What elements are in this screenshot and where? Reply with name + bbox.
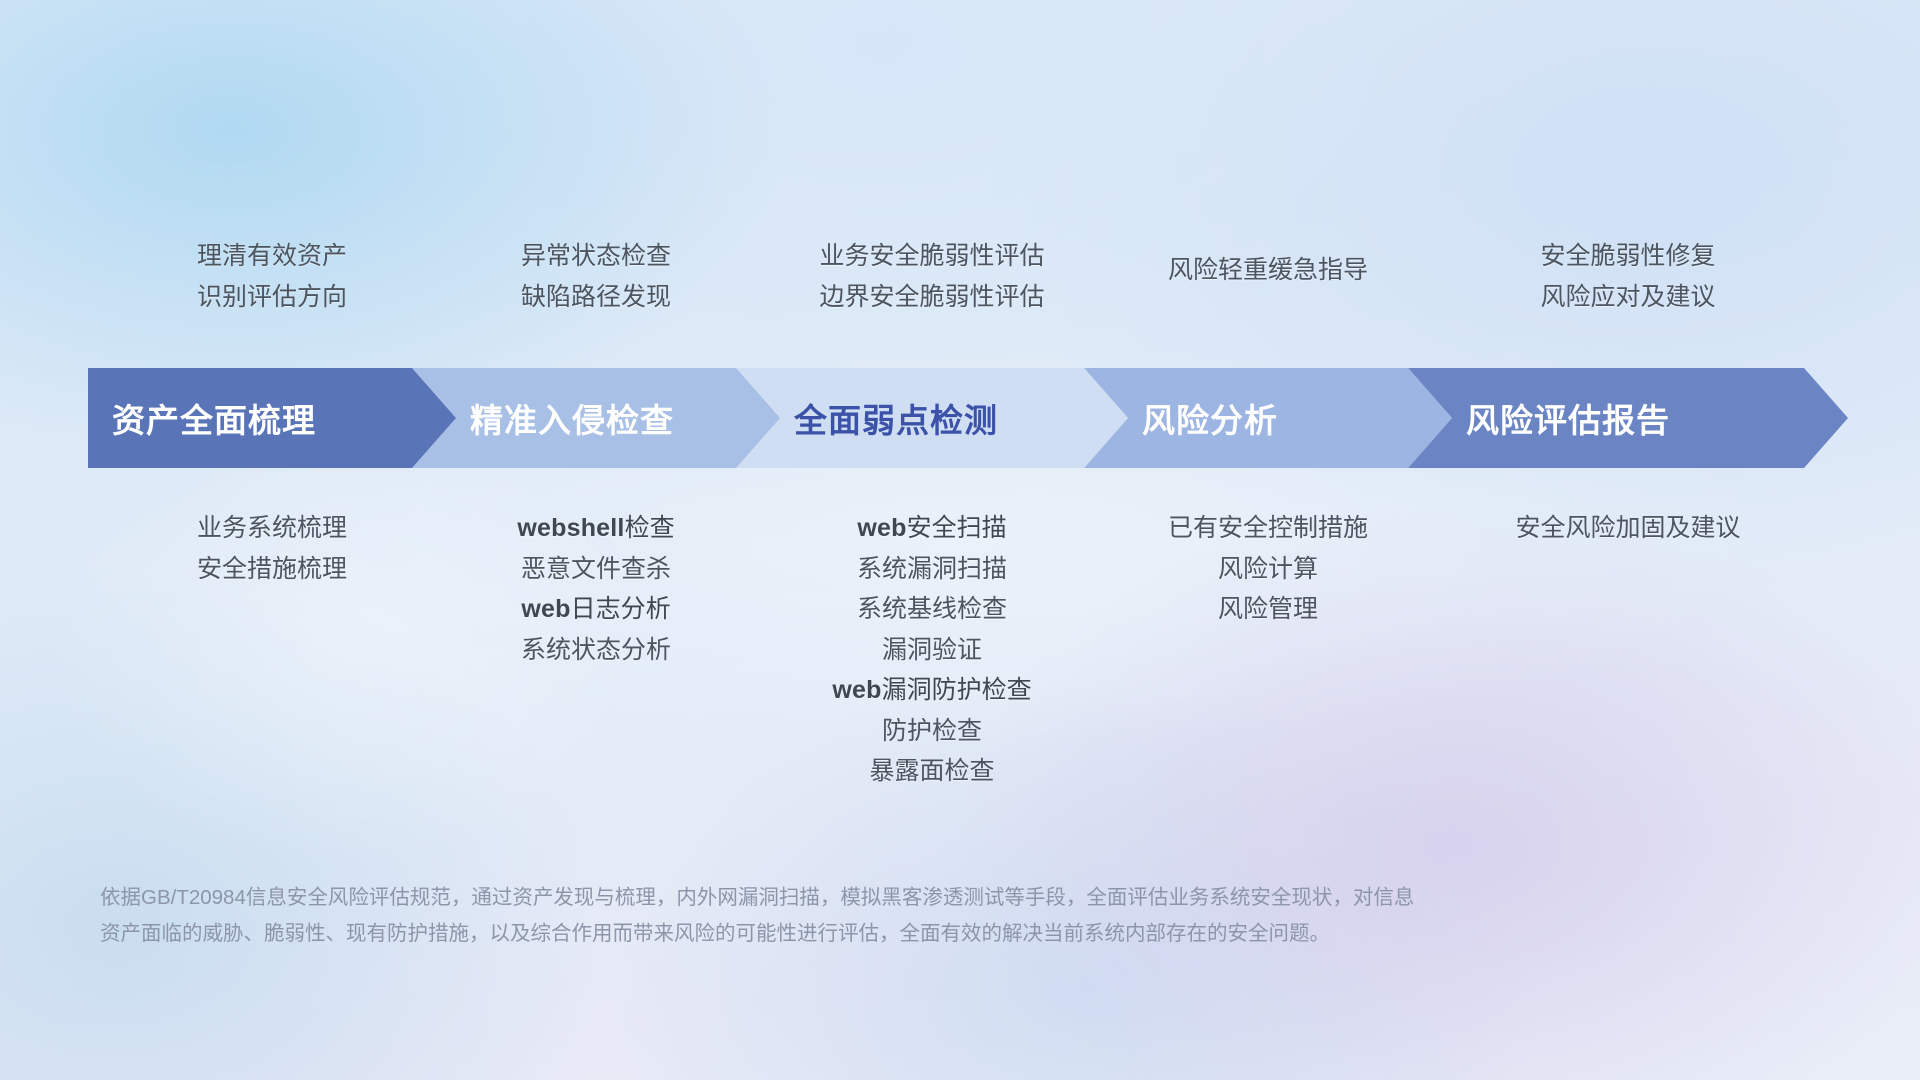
bottom-line-item: web安全扫描	[736, 508, 1128, 549]
bottom-line-item: 暴露面检查	[736, 751, 1128, 792]
top-lines-risk-analysis: 风险轻重缓急指导	[1084, 250, 1452, 291]
top-lines-intrusion-check: 异常状态检查缺陷路径发现	[412, 236, 780, 317]
bottom-lines-assessment-report: 安全风险加固及建议	[1408, 508, 1848, 549]
bottom-line-item: 安全风险加固及建议	[1408, 508, 1848, 549]
footer-line-2: 资产面临的威胁、脆弱性、现有防护措施，以及综合作用而带来风险的可能性进行评估，全…	[100, 916, 1660, 952]
bottom-line-keyword: web	[521, 595, 570, 623]
bottom-line-keyword: webshell	[517, 514, 624, 542]
bottom-line-item: 恶意文件查杀	[412, 549, 780, 590]
flow-stage-label: 精准入侵检查	[470, 394, 674, 442]
bottom-line-item: 已有安全控制措施	[1084, 508, 1452, 549]
bottom-line-item: 业务系统梳理	[88, 508, 456, 549]
bottom-line-item: 风险管理	[1084, 589, 1452, 630]
top-line-item: 缺陷路径发现	[412, 277, 780, 318]
bottom-lines-intrusion-check: webshell检查恶意文件查杀web日志分析系统状态分析	[412, 508, 780, 670]
flow-stage-risk-analysis[interactable]: 风险分析	[1084, 368, 1452, 468]
slide-canvas: 理清有效资产识别评估方向异常状态检查缺陷路径发现业务安全脆弱性评估边界安全脆弱性…	[0, 0, 1920, 1080]
bottom-lines-asset-inventory: 业务系统梳理安全措施梳理	[88, 508, 456, 589]
footer-line-1: 依据GB/T20984信息安全风险评估规范，通过资产发现与梳理，内外网漏洞扫描，…	[100, 880, 1660, 916]
flow-stage-label: 风险评估报告	[1466, 394, 1670, 442]
flow-stage-label: 全面弱点检测	[794, 394, 998, 442]
top-lines-assessment-report: 安全脆弱性修复风险应对及建议	[1408, 236, 1848, 317]
process-flow-banner: 资产全面梳理精准入侵检查全面弱点检测风险分析风险评估报告	[88, 368, 1848, 468]
bottom-line-item: 系统状态分析	[412, 630, 780, 671]
flow-stage-label: 资产全面梳理	[112, 394, 316, 442]
top-line-item: 异常状态检查	[412, 236, 780, 277]
flow-stage-label: 风险分析	[1142, 394, 1278, 442]
flow-stage-weakness-detection[interactable]: 全面弱点检测	[736, 368, 1128, 468]
flow-stage-assessment-report[interactable]: 风险评估报告	[1408, 368, 1848, 468]
bottom-line-item: web日志分析	[412, 589, 780, 630]
top-line-item: 识别评估方向	[88, 277, 456, 318]
bottom-line-item: 安全措施梳理	[88, 549, 456, 590]
bottom-line-item: 系统漏洞扫描	[736, 549, 1128, 590]
top-line-item: 安全脆弱性修复	[1408, 236, 1848, 277]
bottom-line-item: 系统基线检查	[736, 589, 1128, 630]
bottom-lines-weakness-detection: web安全扫描系统漏洞扫描系统基线检查漏洞验证web漏洞防护检查防护检查暴露面检…	[736, 508, 1128, 792]
top-line-item: 边界安全脆弱性评估	[736, 277, 1128, 318]
footer-description: 依据GB/T20984信息安全风险评估规范，通过资产发现与梳理，内外网漏洞扫描，…	[100, 880, 1660, 952]
top-line-item: 风险轻重缓急指导	[1084, 250, 1452, 291]
bottom-line-item: 防护检查	[736, 711, 1128, 752]
bottom-line-item: webshell检查	[412, 508, 780, 549]
top-line-item: 风险应对及建议	[1408, 277, 1848, 318]
top-line-item: 理清有效资产	[88, 236, 456, 277]
bottom-line-item: 漏洞验证	[736, 630, 1128, 671]
flow-stage-intrusion-check[interactable]: 精准入侵检查	[412, 368, 780, 468]
bottom-line-item: web漏洞防护检查	[736, 670, 1128, 711]
top-lines-weakness-detection: 业务安全脆弱性评估边界安全脆弱性评估	[736, 236, 1128, 317]
bottom-line-keyword: web	[832, 676, 881, 704]
bottom-line-keyword: web	[857, 514, 906, 542]
top-line-item: 业务安全脆弱性评估	[736, 236, 1128, 277]
bottom-line-item: 风险计算	[1084, 549, 1452, 590]
top-lines-asset-inventory: 理清有效资产识别评估方向	[88, 236, 456, 317]
bottom-lines-risk-analysis: 已有安全控制措施风险计算风险管理	[1084, 508, 1452, 630]
flow-stage-asset-inventory[interactable]: 资产全面梳理	[88, 368, 456, 468]
